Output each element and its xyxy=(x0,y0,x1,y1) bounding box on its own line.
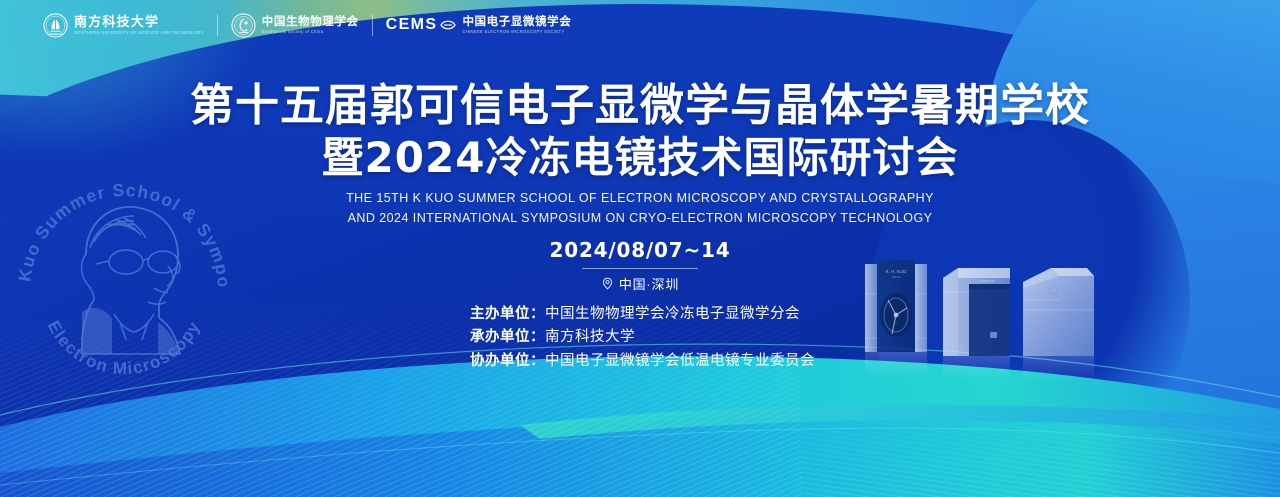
sustech-logo-en: SOUTHERN UNIVERSITY OF SCIENCE AND TECHN… xyxy=(74,30,204,36)
organizer-row: 承办单位：南方科技大学 xyxy=(0,326,1280,349)
organizer-label: 主办单位： xyxy=(470,306,545,322)
organizer-label: 协办单位： xyxy=(470,353,545,369)
title-block: 第十五届郭可信电子显微学与晶体学暑期学校 暨2024冷冻电镜技术国际研讨会 xyxy=(0,80,1280,183)
title-line-2: 暨2024冷冻电镜技术国际研讨会 xyxy=(0,132,1280,183)
sponsor-logo-bar: SUSTECH 南方科技大学 SOUTHERN UNIVERSITY OF SC… xyxy=(30,8,584,42)
cems-logo-en: CHINESE ELECTRON MICROSCOPY SOCIETY xyxy=(462,29,571,35)
svg-text:SUSTECH: SUSTECH xyxy=(49,31,63,35)
cems-logo-cn: 中国电子显微镜学会 xyxy=(462,16,571,29)
organizers-block: 主办单位：中国生物物理学会冷冻电子显微学分会 承办单位：南方科技大学 协办单位：… xyxy=(0,303,1280,373)
biophysical-society-logo-en: Biophysical Society of China xyxy=(262,29,359,35)
organizer-value: 中国生物物理学会冷冻电子显微学分会 xyxy=(545,306,800,322)
subtitle-block: THE 15TH K KUO SUMMER SCHOOL OF ELECTRON… xyxy=(0,188,1280,229)
location-pin-icon xyxy=(601,277,614,290)
sustech-logo-cn: 南方科技大学 xyxy=(74,15,204,30)
title-line-1: 第十五届郭可信电子显微学与晶体学暑期学校 xyxy=(0,80,1280,132)
organizer-value: 中国电子显微镜学会低温电镜专业委员会 xyxy=(545,353,815,369)
conference-banner: K. H. KUO CRYO Panasonic xyxy=(0,0,1280,497)
event-location-text: 中国·深圳 xyxy=(619,274,679,293)
cems-wordmark-icon: CEMS xyxy=(386,16,457,34)
cems-swoosh-icon xyxy=(440,17,456,33)
subtitle-line-2: AND 2024 INTERNATIONAL SYMPOSIUM ON CRYO… xyxy=(0,208,1280,228)
university-seal-icon: SUSTECH xyxy=(43,13,68,38)
cems-logo[interactable]: CEMS 中国电子显微镜学会 CHINESE ELECTRON MICROSCO… xyxy=(373,16,585,35)
organizer-row: 主办单位：中国生物物理学会冷冻电子显微学分会 xyxy=(0,303,1280,326)
organizer-row: 协办单位：中国电子显微镜学会低温电镜专业委员会 xyxy=(0,350,1280,373)
cems-wordmark-text: CEMS xyxy=(386,16,438,34)
date-divider xyxy=(582,268,698,269)
subtitle-line-1: THE 15TH K KUO SUMMER SCHOOL OF ELECTRON… xyxy=(0,188,1280,208)
biophysical-society-logo-cn: 中国生物物理学会 xyxy=(262,16,359,29)
society-seal-icon xyxy=(231,13,256,38)
sustech-logo[interactable]: SUSTECH 南方科技大学 SOUTHERN UNIVERSITY OF SC… xyxy=(30,13,217,38)
event-date: 2024/08/07~14 xyxy=(0,238,1280,262)
organizer-value: 南方科技大学 xyxy=(545,329,635,345)
date-location-block: 2024/08/07~14 中国·深圳 xyxy=(0,238,1280,295)
biophysical-society-logo[interactable]: 中国生物物理学会 Biophysical Society of China xyxy=(218,13,372,38)
organizer-label: 承办单位： xyxy=(470,329,545,345)
event-location-row: 中国·深圳 xyxy=(601,274,679,293)
